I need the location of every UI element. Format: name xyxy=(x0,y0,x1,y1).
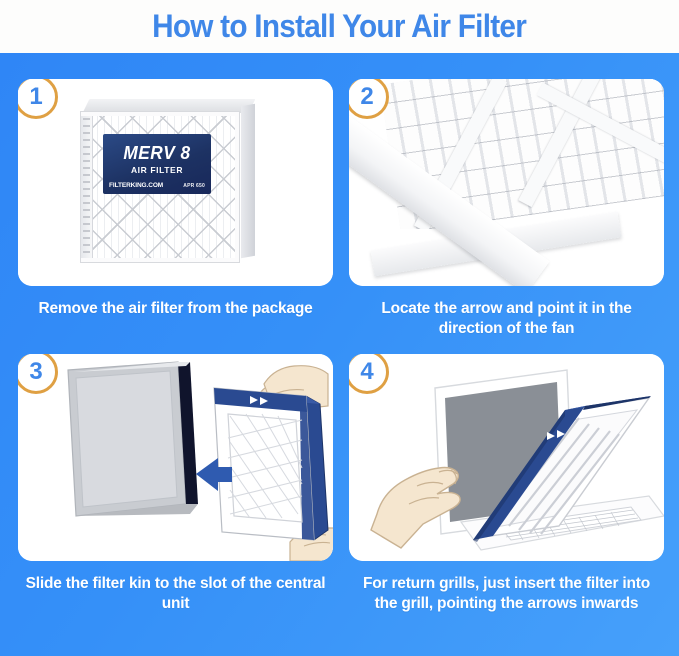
step-4-artwork xyxy=(349,354,664,561)
filter-left-rail xyxy=(81,116,93,258)
step-caption-4: For return grills, just insert the filte… xyxy=(349,574,664,614)
hand-holding-filter xyxy=(371,468,460,549)
header-bar: How to Install Your Air Filter xyxy=(0,0,679,53)
step-panel-3: 3 Slide the filter kin to the slot of th… xyxy=(18,354,333,614)
filter-label: MERV 8 AIR FILTER FILTERKING.COM APR 650 xyxy=(103,134,211,194)
label-bottom-row: FILTERKING.COM APR 650 xyxy=(103,182,211,189)
filter-box-right-edge xyxy=(241,104,255,258)
step-2-card: Air Filter 2 xyxy=(349,79,664,286)
step-number-4: 4 xyxy=(360,360,373,384)
step-number-2: 2 xyxy=(360,85,373,109)
central-unit-housing xyxy=(68,362,198,516)
step-panel-2: Air Filter 2 Locate the arrow and point … xyxy=(349,79,664,339)
step-1-card: MERV 8 AIR FILTER FILTERKING.COM APR 650 xyxy=(18,79,333,286)
step-caption-2: Locate the arrow and point it in the dir… xyxy=(349,299,664,339)
step-number-3: 3 xyxy=(29,360,42,384)
step-panel-4: 4 For return grills, just insert the fil… xyxy=(349,354,664,614)
merv-rating-text: MERV 8 xyxy=(105,143,209,164)
slide-into-slot-illustration xyxy=(18,354,333,561)
step-2-artwork: Air Filter xyxy=(349,79,664,286)
step-number-1: 1 xyxy=(29,85,42,109)
air-filter-subtitle: AIR FILTER xyxy=(103,165,211,175)
step-caption-3: Slide the filter kin to the slot of the … xyxy=(18,574,333,614)
air-filter-product-photo: MERV 8 AIR FILTER FILTERKING.COM APR 650 xyxy=(80,99,255,269)
step-3-card: 3 xyxy=(18,354,333,561)
step-caption-1: Remove the air filter from the package xyxy=(18,299,333,319)
page-title: How to Install Your Air Filter xyxy=(153,8,527,45)
apr-rating-text: APR 650 xyxy=(183,183,205,189)
step-panel-1: MERV 8 AIR FILTER FILTERKING.COM APR 650 xyxy=(18,79,333,319)
air-filter-unit xyxy=(214,388,328,540)
step-1-artwork: MERV 8 AIR FILTER FILTERKING.COM APR 650 xyxy=(18,79,333,286)
steps-grid: MERV 8 AIR FILTER FILTERKING.COM APR 650 xyxy=(0,53,679,656)
return-grill-insert-illustration xyxy=(349,354,664,561)
infographic-root: How to Install Your Air Filter M xyxy=(0,0,679,656)
filter-box-front-face: MERV 8 AIR FILTER FILTERKING.COM APR 650 xyxy=(80,111,240,263)
step-4-card: 4 xyxy=(349,354,664,561)
brand-website-text: FILTERKING.COM xyxy=(109,182,163,189)
step-3-artwork xyxy=(18,354,333,561)
